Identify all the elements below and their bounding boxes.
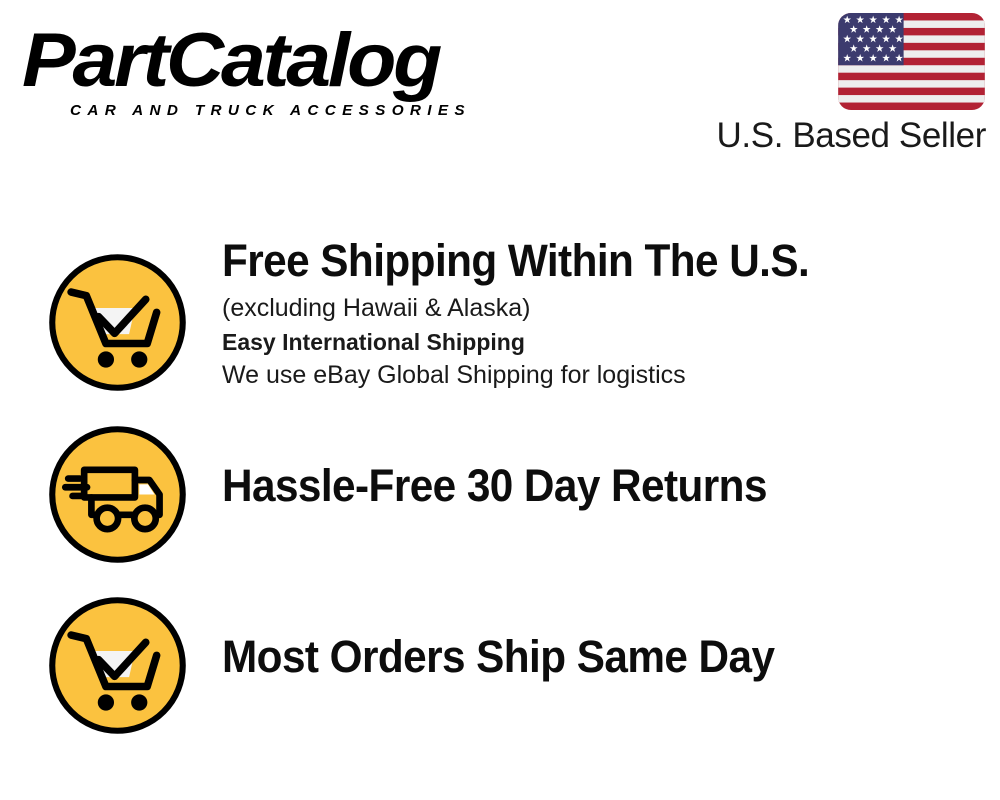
us-flag-icon	[838, 13, 985, 110]
shopping-cart-check-icon	[45, 593, 190, 738]
delivery-truck-icon	[45, 422, 190, 567]
feature-text-block: Most Orders Ship Same Day	[222, 632, 982, 682]
feature-subline: (excluding Hawaii & Alaska)	[222, 292, 982, 325]
feature-headline: Hassle-Free 30 Day Returns	[222, 461, 936, 511]
feature-headline: Most Orders Ship Same Day	[222, 632, 936, 682]
feature-text-block: Hassle-Free 30 Day Returns	[222, 461, 982, 511]
partcatalog-logo[interactable]: PartCatalog CAR AND TRUCK ACCESSORIES	[22, 18, 502, 118]
us-based-seller-label: U.S. Based Seller	[717, 116, 986, 156]
logo-wordmark: PartCatalog	[22, 18, 439, 104]
shopping-cart-check-icon	[45, 250, 190, 395]
feature-subline: We use eBay Global Shipping for logistic…	[222, 359, 982, 392]
page-header: PartCatalog CAR AND TRUCK ACCESSORIES	[0, 0, 1000, 170]
logo-tagline: CAR AND TRUCK ACCESSORIES	[70, 102, 471, 119]
feature-text-block: Free Shipping Within The U.S. (excluding…	[222, 236, 982, 392]
feature-subline: Easy International Shipping	[222, 325, 982, 359]
feature-headline: Free Shipping Within The U.S.	[222, 236, 936, 286]
